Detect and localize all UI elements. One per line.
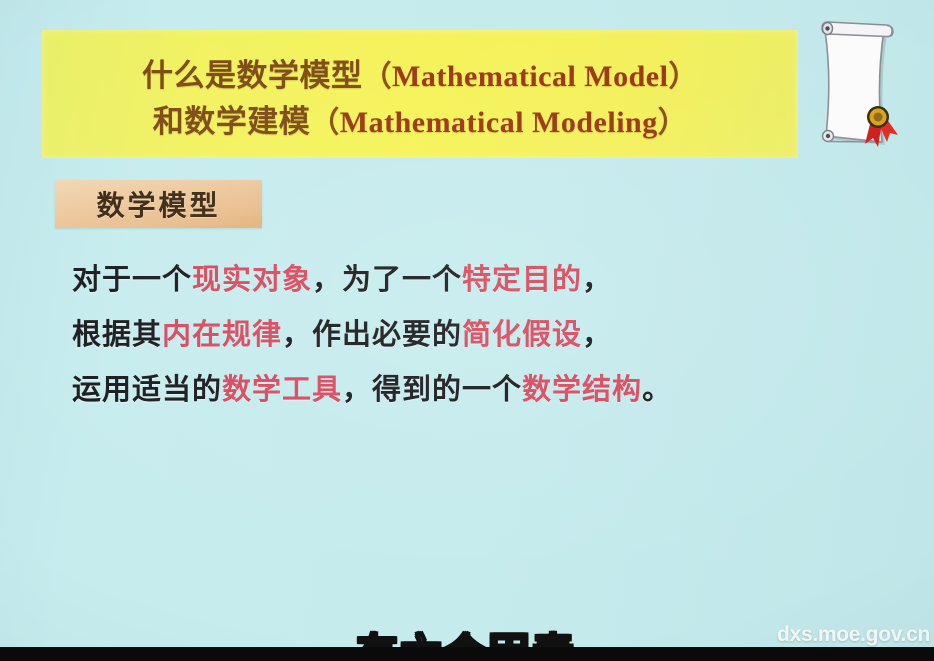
definition-seg: ， bbox=[582, 317, 612, 351]
definition-seg: 运用适当的 bbox=[72, 372, 222, 406]
scroll-certificate-icon bbox=[808, 18, 908, 148]
title-banner: 什么是数学模型（Mathematical Model） 和数学建模（Mathem… bbox=[42, 30, 798, 158]
title-line-1-paren-open: （ bbox=[363, 59, 393, 93]
site-watermark: dxs.moe.gov.cn bbox=[777, 623, 930, 647]
definition-seg: ，作出必要的 bbox=[282, 317, 462, 351]
title-line-2: 和数学建模（Mathematical Modeling） bbox=[42, 96, 798, 141]
definition-seg-highlight: 数学工具 bbox=[222, 372, 342, 406]
presentation-slide: 什么是数学模型（Mathematical Model） 和数学建模（Mathem… bbox=[0, 0, 934, 661]
title-line-1-paren-close: ） bbox=[668, 59, 698, 93]
definition-seg-highlight: 数学结构 bbox=[522, 372, 642, 406]
definition-seg: ，得到的一个 bbox=[342, 372, 522, 406]
definition-line-1: 对于一个现实对象，为了一个特定目的， bbox=[72, 252, 862, 307]
definition-seg-highlight: 特定目的 bbox=[462, 262, 582, 296]
definition-seg-highlight: 内在规律 bbox=[162, 317, 282, 351]
definition-seg-highlight: 现实对象 bbox=[192, 262, 312, 296]
definition-seg: ，为了一个 bbox=[312, 262, 462, 296]
title-line-1: 什么是数学模型（Mathematical Model） bbox=[42, 50, 798, 95]
definition-seg: 对于一个 bbox=[72, 262, 192, 296]
definition-seg-highlight: 简化假设 bbox=[462, 317, 582, 351]
title-line-2-paren-close: ） bbox=[658, 105, 688, 139]
title-line-2-chinese: 和数学建模 bbox=[153, 104, 311, 140]
section-heading-label: 数学模型 bbox=[96, 184, 220, 224]
title-line-1-english: Mathematical Model bbox=[392, 60, 668, 93]
definition-line-2: 根据其内在规律，作出必要的简化假设， bbox=[72, 307, 862, 362]
title-line-2-paren-open: （ bbox=[310, 105, 340, 139]
definition-line-3: 运用适当的数学工具，得到的一个数学结构。 bbox=[72, 362, 862, 417]
definition-seg: 。 bbox=[642, 372, 672, 406]
letterbox-band bbox=[0, 647, 934, 661]
definition-seg: ， bbox=[582, 262, 612, 296]
title-line-2-english: Mathematical Modeling bbox=[340, 106, 658, 139]
section-heading-chip: 数学模型 bbox=[55, 180, 262, 228]
definition-paragraph: 对于一个现实对象，为了一个特定目的， 根据其内在规律，作出必要的简化假设， 运用… bbox=[72, 252, 862, 417]
definition-seg: 根据其 bbox=[72, 317, 162, 351]
title-line-1-chinese: 什么是数学模型 bbox=[142, 58, 363, 94]
